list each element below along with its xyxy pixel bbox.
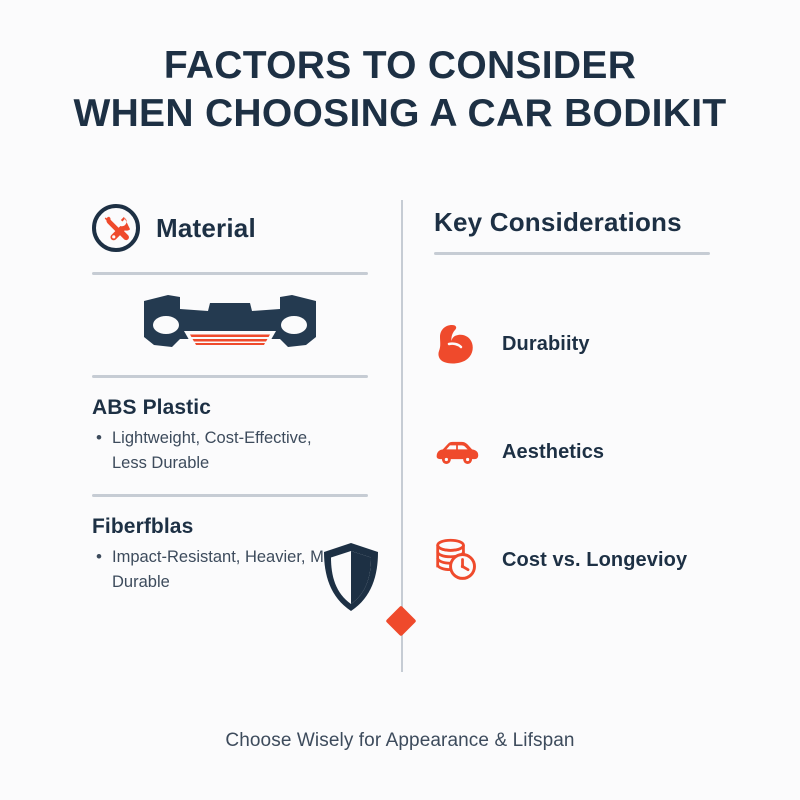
divider-under-considerations-header	[434, 252, 710, 255]
footer: Choose Wisely for Appearance & Lifspan	[0, 730, 800, 752]
left-column-material: Material ABS Plastic	[92, 200, 368, 595]
wrench-gear-icon	[92, 204, 140, 252]
list-item: Aesthetics	[434, 425, 724, 479]
divider-between-materials	[92, 494, 368, 497]
divider-under-material-header	[92, 272, 368, 275]
vertical-divider	[401, 200, 403, 672]
list-item-label: Cost vs. Longevioy	[502, 549, 687, 572]
car-bumper-illustration	[92, 287, 368, 361]
material-name: ABS Plastic	[92, 396, 368, 420]
material-bullet-list: Lightweight, Cost-Effective, Less Durabl…	[92, 426, 368, 476]
car-side-icon	[434, 429, 480, 475]
shield-icon	[320, 541, 382, 618]
divider-under-bumper	[92, 375, 368, 378]
flexed-bicep-icon	[434, 321, 480, 367]
content-columns: Material ABS Plastic	[0, 200, 800, 680]
material-name: Fiberfblas	[92, 515, 368, 539]
material-section-label: Material	[156, 213, 256, 244]
material-item-abs: ABS Plastic Lightweight, Cost-Effective,…	[92, 396, 368, 476]
infographic-canvas: Factors to Consider When Choosing a Car …	[0, 0, 800, 800]
coins-clock-icon	[434, 537, 480, 583]
title-line-2: When Choosing a Car Bodikit	[0, 90, 800, 138]
considerations-list: Durabiity Aestheti	[434, 317, 724, 587]
title-line-1: Factors to Consider	[0, 42, 800, 90]
list-item: Cost vs. Longevioy	[434, 533, 724, 587]
list-item-label: Aesthetics	[502, 441, 604, 464]
material-bullet: Impact-Resistant, Heavier, More Durable	[92, 545, 350, 595]
page-title: Factors to Consider When Choosing a Car …	[0, 42, 800, 138]
considerations-section-label: Key Considerations	[434, 200, 724, 244]
footer-text: Choose Wisely for Appearance & Lifspan	[225, 730, 574, 751]
right-column-considerations: Key Considerations Durabiity	[434, 200, 724, 641]
diamond-accent-icon	[385, 605, 416, 636]
list-item: Durabiity	[434, 317, 724, 371]
list-item-label: Durabiity	[502, 333, 590, 356]
material-bullet: Lightweight, Cost-Effective, Less Durabl…	[92, 426, 350, 476]
material-section-header: Material	[92, 200, 368, 256]
material-item-fiberglass: Fiberfblas Impact-Resistant, Heavier, Mo…	[92, 515, 368, 595]
